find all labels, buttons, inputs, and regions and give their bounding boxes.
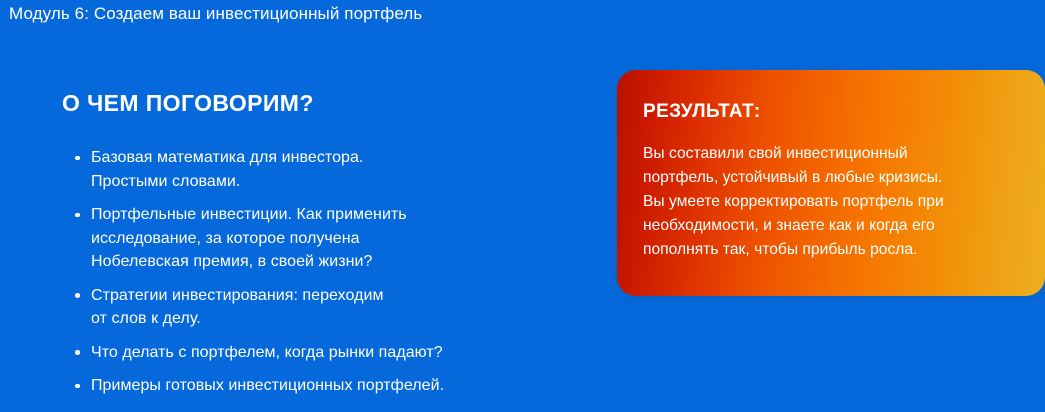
result-card-body-line: Вы составили свой инвестиционный xyxy=(643,142,1033,166)
bullet-icon xyxy=(75,384,80,389)
result-card: РЕЗУЛЬТАТ: Вы составили свой инвестицион… xyxy=(617,70,1045,296)
agenda-item-line: Базовая математика для инвестора. xyxy=(91,146,602,170)
bullet-icon xyxy=(75,156,80,161)
agenda-item-line: Портфельные инвестиции. Как применить xyxy=(91,203,602,227)
agenda-list: Базовая математика для инвестора.Простым… xyxy=(62,146,602,408)
agenda-item-line: Примеры готовых инвестиционных портфелей… xyxy=(91,374,602,398)
agenda-item-line: Что делать с портфелем, когда рынки пада… xyxy=(91,341,602,365)
result-card-body-line: портфель, устойчивый в любые кризисы. xyxy=(643,166,1033,190)
result-card-heading: РЕЗУЛЬТАТ: xyxy=(643,100,761,124)
agenda-item-line: Стратегии инвестирования: переходим xyxy=(91,284,602,308)
agenda-item: Портфельные инвестиции. Как применитьисс… xyxy=(62,203,602,274)
agenda-item-line: от слов к делу. xyxy=(91,307,602,331)
bullet-icon xyxy=(75,293,80,298)
agenda-item-line: исследование, за которое получена xyxy=(91,227,602,251)
result-card-body-line: Вы умеете корректировать портфель при xyxy=(643,190,1033,214)
agenda-panel: О ЧЕМ ПОГОВОРИМ? Базовая математика для … xyxy=(0,0,610,412)
agenda-item: Стратегии инвестирования: переходимот сл… xyxy=(62,284,602,331)
agenda-item: Примеры готовых инвестиционных портфелей… xyxy=(62,374,602,398)
bullet-icon xyxy=(75,213,80,218)
result-card-body: Вы составили свой инвестиционныйпортфель… xyxy=(643,142,1033,262)
result-card-body-line: необходимости, и знаете как и когда его xyxy=(643,214,1033,238)
agenda-item-line: Простыми словами. xyxy=(91,170,602,194)
bullet-icon xyxy=(75,350,80,355)
result-card-body-line: пополнять так, чтобы прибыль росла. xyxy=(643,238,1033,262)
agenda-item: Базовая математика для инвестора.Простым… xyxy=(62,146,602,193)
agenda-heading: О ЧЕМ ПОГОВОРИМ? xyxy=(62,89,314,117)
agenda-item: Что делать с портфелем, когда рынки пада… xyxy=(62,341,602,365)
agenda-item-line: Нобелевская премия, в своей жизни? xyxy=(91,250,602,274)
